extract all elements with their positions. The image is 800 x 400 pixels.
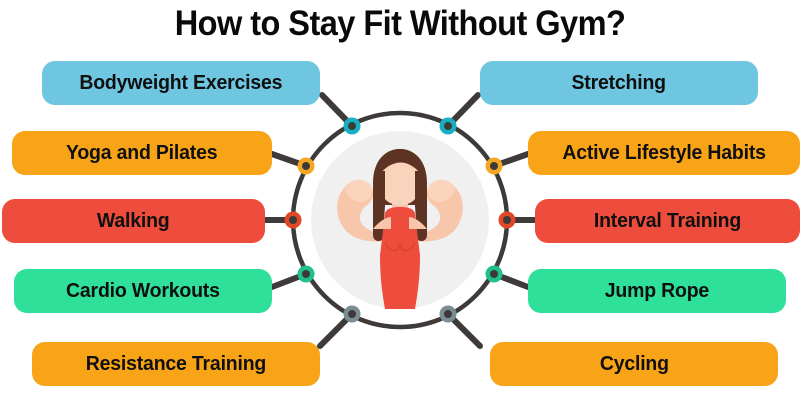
topic-pill-resistance-training[interactable]: Resistance Training <box>32 342 320 386</box>
topic-label: Interval Training <box>594 209 741 233</box>
topic-pill-cycling[interactable]: Cycling <box>490 342 778 386</box>
node-right-3-core <box>503 216 511 224</box>
node-left-3-core <box>289 216 297 224</box>
node-left-5-core <box>348 310 356 318</box>
topic-pill-stretching[interactable]: Stretching <box>480 61 758 105</box>
node-right-2-core <box>490 162 498 170</box>
topic-pill-cardio-workouts[interactable]: Cardio Workouts <box>14 269 272 313</box>
topic-label: Walking <box>97 209 170 233</box>
node-left-4-core <box>302 270 310 278</box>
topic-pill-walking[interactable]: Walking <box>2 199 265 243</box>
node-left-1-core <box>348 122 356 130</box>
topic-pill-yoga-and-pilates[interactable]: Yoga and Pilates <box>12 131 272 175</box>
topic-pill-active-lifestyle-habits[interactable]: Active Lifestyle Habits <box>528 131 800 175</box>
topic-label: Bodyweight Exercises <box>80 71 283 95</box>
topic-label: Yoga and Pilates <box>66 141 217 165</box>
topic-label: Jump Rope <box>605 279 709 303</box>
topic-label: Active Lifestyle Habits <box>562 141 765 165</box>
topic-pill-jump-rope[interactable]: Jump Rope <box>528 269 786 313</box>
topic-label: Cycling <box>599 352 668 376</box>
topic-label: Cardio Workouts <box>66 279 220 303</box>
topic-label: Resistance Training <box>86 352 266 376</box>
node-right-5-core <box>444 310 452 318</box>
topic-label: Stretching <box>572 71 666 95</box>
node-right-1-core <box>444 122 452 130</box>
hair-side-right <box>415 171 423 207</box>
woman-flexing-biceps-illustration <box>311 131 489 309</box>
node-right-4-core <box>490 270 498 278</box>
infographic-canvas: How to Stay Fit Without Gym? <box>0 0 800 400</box>
hair-side-left <box>377 171 385 207</box>
topic-pill-interval-training[interactable]: Interval Training <box>535 199 800 243</box>
topic-pill-bodyweight-exercises[interactable]: Bodyweight Exercises <box>42 61 320 105</box>
node-left-2-core <box>302 162 310 170</box>
